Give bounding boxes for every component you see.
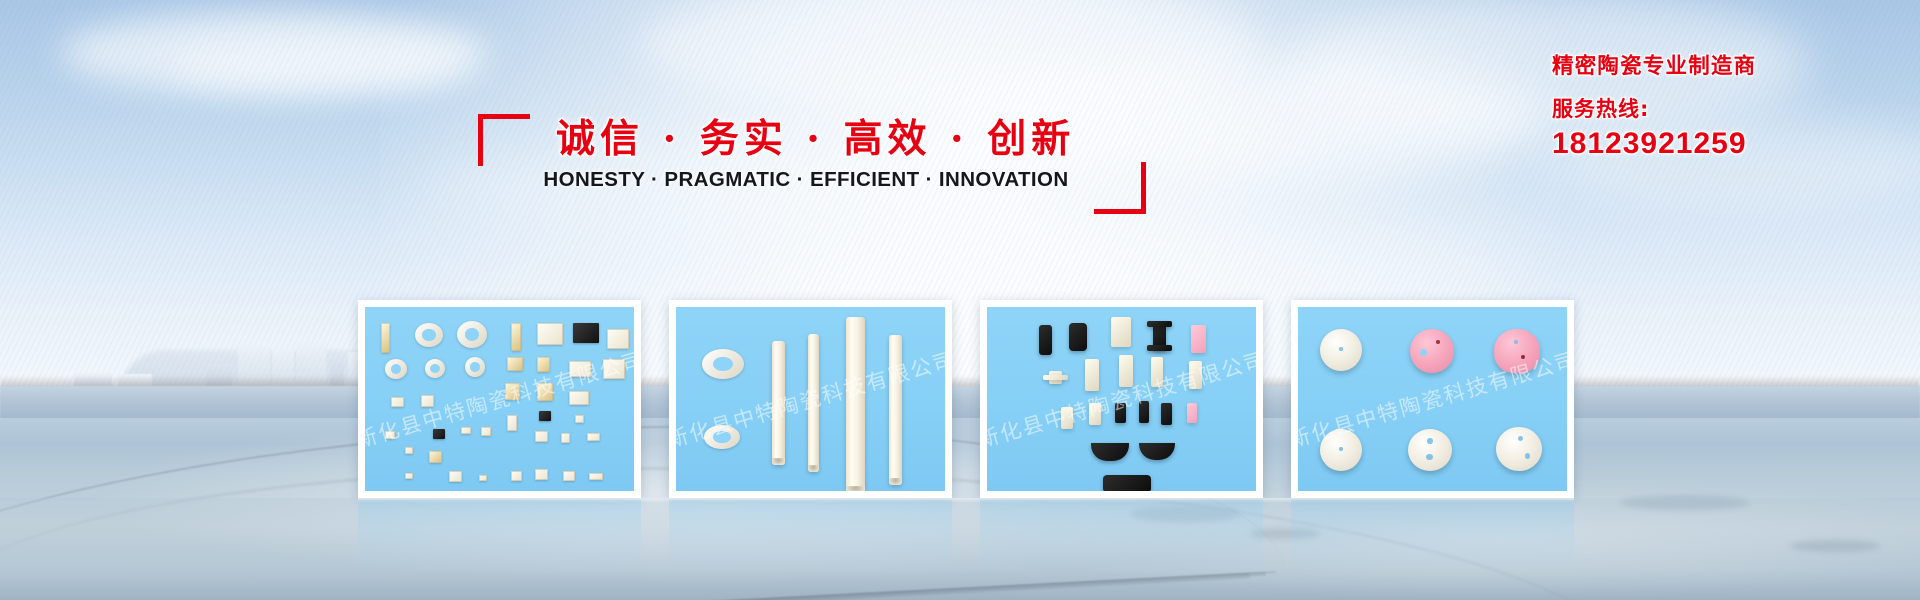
panel-reflection bbox=[669, 500, 952, 574]
product-panel-smd-components[interactable]: 新化县中特陶瓷科技有限公司 bbox=[358, 300, 641, 498]
panel-image: 新化县中特陶瓷科技有限公司 bbox=[987, 307, 1256, 491]
hotline-number[interactable]: 18123921259 bbox=[1552, 126, 1882, 162]
puddle bbox=[1790, 540, 1880, 552]
company-tagline: 精密陶瓷专业制造商 bbox=[1552, 52, 1882, 82]
contact-block: 精密陶瓷专业制造商 服务热线: 18123921259 bbox=[1552, 52, 1882, 162]
puddle bbox=[1620, 496, 1750, 510]
bracket-top-left-icon bbox=[478, 114, 530, 166]
slogan-block: 诚信 · 务实 · 高效 · 创新 HONESTY · PRAGMATIC · … bbox=[470, 98, 1130, 208]
slogan-chinese: 诚信 · 务实 · 高效 · 创新 bbox=[556, 108, 1056, 164]
panel-reflection-row bbox=[358, 500, 1574, 574]
panel-image: 新化县中特陶瓷科技有限公司 bbox=[365, 307, 634, 491]
product-panel-ceramic-tubes[interactable]: 新化县中特陶瓷科技有限公司 bbox=[669, 300, 952, 498]
hero-banner: 诚信 · 务实 · 高效 · 创新 HONESTY · PRAGMATIC · … bbox=[0, 0, 1920, 600]
panel-reflection bbox=[358, 500, 641, 574]
hotline-label: 服务热线: bbox=[1552, 92, 1882, 126]
panel-reflection bbox=[1291, 500, 1574, 574]
panel-reflection bbox=[980, 500, 1263, 574]
product-panel-ceramic-nozzles[interactable]: 新化县中特陶瓷科技有限公司 bbox=[1291, 300, 1574, 498]
product-panel-ceramic-blocks[interactable]: 新化县中特陶瓷科技有限公司 bbox=[980, 300, 1263, 498]
panel-image: 新化县中特陶瓷科技有限公司 bbox=[1298, 307, 1567, 491]
panel-image: 新化县中特陶瓷科技有限公司 bbox=[676, 307, 945, 491]
slogan-english: HONESTY · PRAGMATIC · EFFICIENT · INNOVA… bbox=[496, 168, 1116, 192]
product-panel-row: 新化县中特陶瓷科技有限公司 新化县中特陶瓷科技有限公司 bbox=[358, 300, 1574, 498]
